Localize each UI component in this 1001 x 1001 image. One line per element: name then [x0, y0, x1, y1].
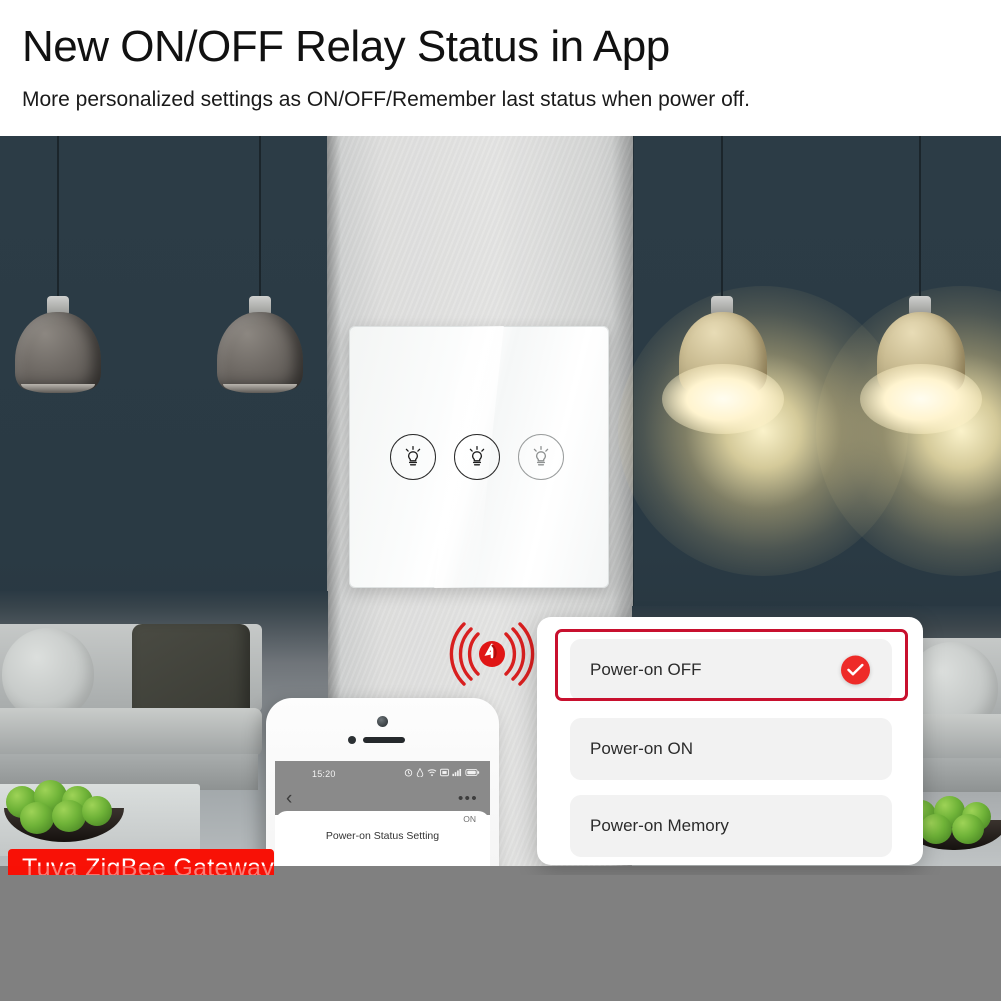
phone-sensor-icon	[348, 736, 356, 744]
callout-option-power-on-off[interactable]: Power-on OFF	[570, 639, 892, 701]
apple	[952, 814, 984, 844]
apple	[52, 800, 86, 832]
more-options-button[interactable]: •••	[458, 793, 478, 805]
sofa-cushion-round	[2, 628, 94, 720]
phone-screen: 15:20	[275, 761, 490, 866]
alarm-icon	[404, 768, 413, 777]
sim-icon	[440, 768, 449, 777]
sheet-title: Power-on Status Setting	[275, 830, 490, 842]
lamp-cord	[919, 136, 921, 304]
apple	[82, 796, 112, 826]
drop-icon	[416, 768, 424, 777]
lamp-cord	[721, 136, 723, 304]
callout-option-power-on-memory[interactable]: Power-on Memory	[570, 795, 892, 857]
switch-button-2[interactable]	[454, 434, 500, 480]
photo-bottom-mask	[0, 875, 1001, 1001]
wireless-signal-icon	[447, 618, 537, 690]
smartphone-mockup: 15:20	[266, 698, 499, 866]
signal-icon	[452, 768, 462, 777]
lamp-hotspot	[662, 364, 784, 434]
switch-button-1[interactable]	[390, 434, 436, 480]
power-on-status-callout-card: Power-on OFF Power-on ON Power-on Memory	[537, 617, 923, 865]
callout-option-power-on-on[interactable]: Power-on ON	[570, 718, 892, 780]
selected-check-icon	[841, 656, 870, 685]
light-bulb-icon	[528, 444, 554, 470]
battery-icon	[465, 768, 480, 777]
light-bulb-icon	[464, 444, 490, 470]
wifi-icon	[427, 768, 437, 777]
lamp-hotspot	[860, 364, 982, 434]
status-bar-icons	[404, 768, 480, 777]
apple	[920, 814, 952, 844]
option-label: Power-on Memory	[590, 816, 729, 836]
apple	[20, 802, 54, 834]
screenshot-root: New ON/OFF Relay Status in App More pers…	[0, 0, 1001, 1001]
phone-bottom-sheet: ON Power-on Status Setting Power-on OFF	[275, 811, 490, 866]
option-label: Power-on ON	[590, 739, 693, 759]
page-subtitle: More personalized settings as ON/OFF/Rem…	[22, 86, 750, 114]
smart-wall-switch-panel	[349, 326, 609, 588]
header-banner: New ON/OFF Relay Status in App More pers…	[0, 0, 1001, 136]
check-icon	[847, 663, 864, 678]
sofa-seat	[0, 708, 262, 756]
phone-status-bar: 15:20	[275, 761, 490, 815]
status-bar-clock: 15:20	[312, 769, 336, 779]
lamp-cord	[57, 136, 59, 304]
light-bulb-icon	[400, 444, 426, 470]
phone-front-camera-icon	[377, 716, 388, 727]
lamp-cord	[259, 136, 261, 304]
phone-earpiece	[363, 737, 405, 743]
switch-button-3[interactable]	[518, 434, 564, 480]
relay-state-label: ON	[463, 814, 476, 824]
back-button[interactable]: ‹	[286, 789, 292, 809]
page-title: New ON/OFF Relay Status in App	[22, 20, 670, 74]
option-label: Power-on OFF	[590, 660, 701, 680]
